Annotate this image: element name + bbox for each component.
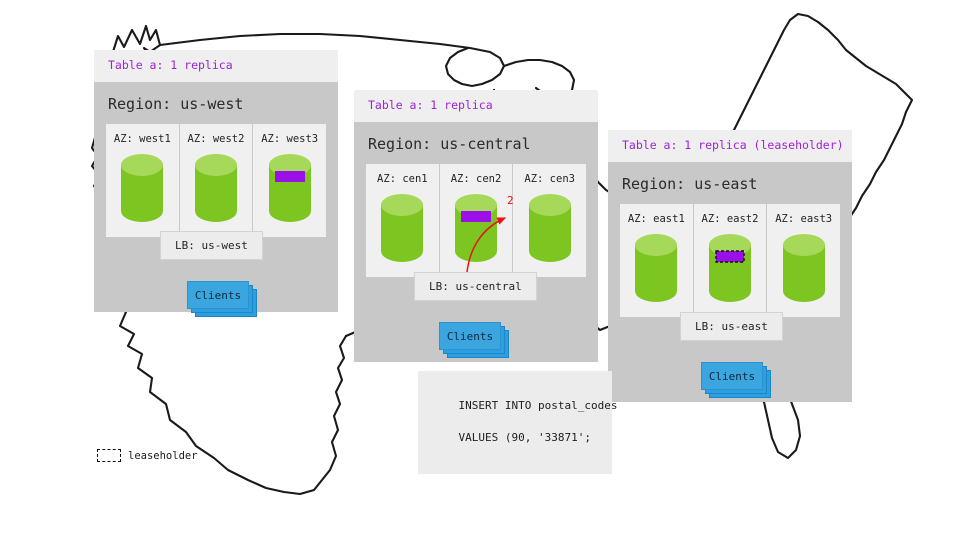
sql-line-1: INSERT INTO postal_codes [459, 399, 618, 412]
az-cell-cen1[interactable]: AZ: cen1 [366, 164, 440, 277]
region-panel-us-west: Table a: 1 replica Region: us-west AZ: w… [94, 50, 338, 312]
node-cylinder-cen1 [379, 193, 425, 263]
replica-marker-leaseholder-east2 [716, 251, 744, 262]
az-row-us-central: AZ: cen1 AZ: cen2 [366, 164, 586, 277]
node-cylinder-west3 [267, 153, 313, 223]
region-name-us-central: Region: us-central [354, 122, 598, 164]
clients-us-east[interactable]: Clients [701, 362, 763, 390]
az-label-cen1: AZ: cen1 [377, 173, 428, 185]
az-cell-east2[interactable]: AZ: east2 [694, 204, 768, 317]
sql-line-2: VALUES (90, '33871'; [459, 431, 591, 444]
load-balancer-us-east[interactable]: LB: us-east [680, 312, 783, 341]
region-body-us-west: Region: us-west AZ: west1 AZ: west2 [94, 82, 338, 312]
node-cylinder-west2 [193, 153, 239, 223]
node-cylinder-east3 [781, 233, 827, 303]
az-label-east2: AZ: east2 [702, 213, 759, 225]
region-panel-us-central: Table a: 1 replica Region: us-central AZ… [354, 90, 598, 362]
diagram-canvas: Table a: 1 replica Region: us-west AZ: w… [0, 0, 960, 540]
node-cylinder-west1 [119, 153, 165, 223]
clients-button-us-east[interactable]: Clients [701, 362, 763, 390]
node-cylinder-cen3 [527, 193, 573, 263]
az-label-west1: AZ: west1 [114, 133, 171, 145]
az-cell-east3[interactable]: AZ: east3 [767, 204, 840, 317]
az-label-east3: AZ: east3 [775, 213, 832, 225]
clients-us-west[interactable]: Clients [187, 281, 249, 309]
az-cell-east1[interactable]: AZ: east1 [620, 204, 694, 317]
region-name-us-east: Region: us-east [608, 162, 852, 204]
replica-marker-cen2 [461, 211, 491, 222]
az-label-east1: AZ: east1 [628, 213, 685, 225]
az-label-cen3: AZ: cen3 [524, 173, 575, 185]
clients-us-central[interactable]: Clients [439, 322, 501, 350]
az-label-cen2: AZ: cen2 [451, 173, 502, 185]
region-panel-us-east: Table a: 1 replica (leaseholder) Region:… [608, 130, 852, 402]
load-balancer-us-west[interactable]: LB: us-west [160, 231, 263, 260]
region-title-us-west: Table a: 1 replica [94, 50, 338, 82]
az-row-us-west: AZ: west1 AZ: west2 [106, 124, 326, 237]
az-cell-cen3[interactable]: AZ: cen3 [513, 164, 586, 277]
load-balancer-us-central[interactable]: LB: us-central [414, 272, 537, 301]
node-cylinder-east1 [633, 233, 679, 303]
legend-leaseholder: leaseholder [97, 449, 198, 462]
az-cell-west1[interactable]: AZ: west1 [106, 124, 180, 237]
arrow-step-label: 2 [507, 194, 514, 207]
az-label-west3: AZ: west3 [261, 133, 318, 145]
dashed-rectangle-icon [97, 449, 121, 462]
region-title-us-central: Table a: 1 replica [354, 90, 598, 122]
clients-button-us-central[interactable]: Clients [439, 322, 501, 350]
az-cell-cen2[interactable]: AZ: cen2 [440, 164, 514, 277]
az-cell-west2[interactable]: AZ: west2 [180, 124, 254, 237]
legend-label-leaseholder: leaseholder [128, 450, 198, 462]
clients-button-us-west[interactable]: Clients [187, 281, 249, 309]
az-row-us-east: AZ: east1 AZ: east2 [620, 204, 840, 317]
region-title-us-east: Table a: 1 replica (leaseholder) [608, 130, 852, 162]
node-cylinder-east2 [707, 233, 753, 303]
region-name-us-west: Region: us-west [94, 82, 338, 124]
replica-marker-west3 [275, 171, 305, 182]
az-cell-west3[interactable]: AZ: west3 [253, 124, 326, 237]
node-cylinder-cen2 [453, 193, 499, 263]
sql-statement-box: INSERT INTO postal_codes VALUES (90, '33… [418, 371, 612, 474]
az-label-west2: AZ: west2 [188, 133, 245, 145]
